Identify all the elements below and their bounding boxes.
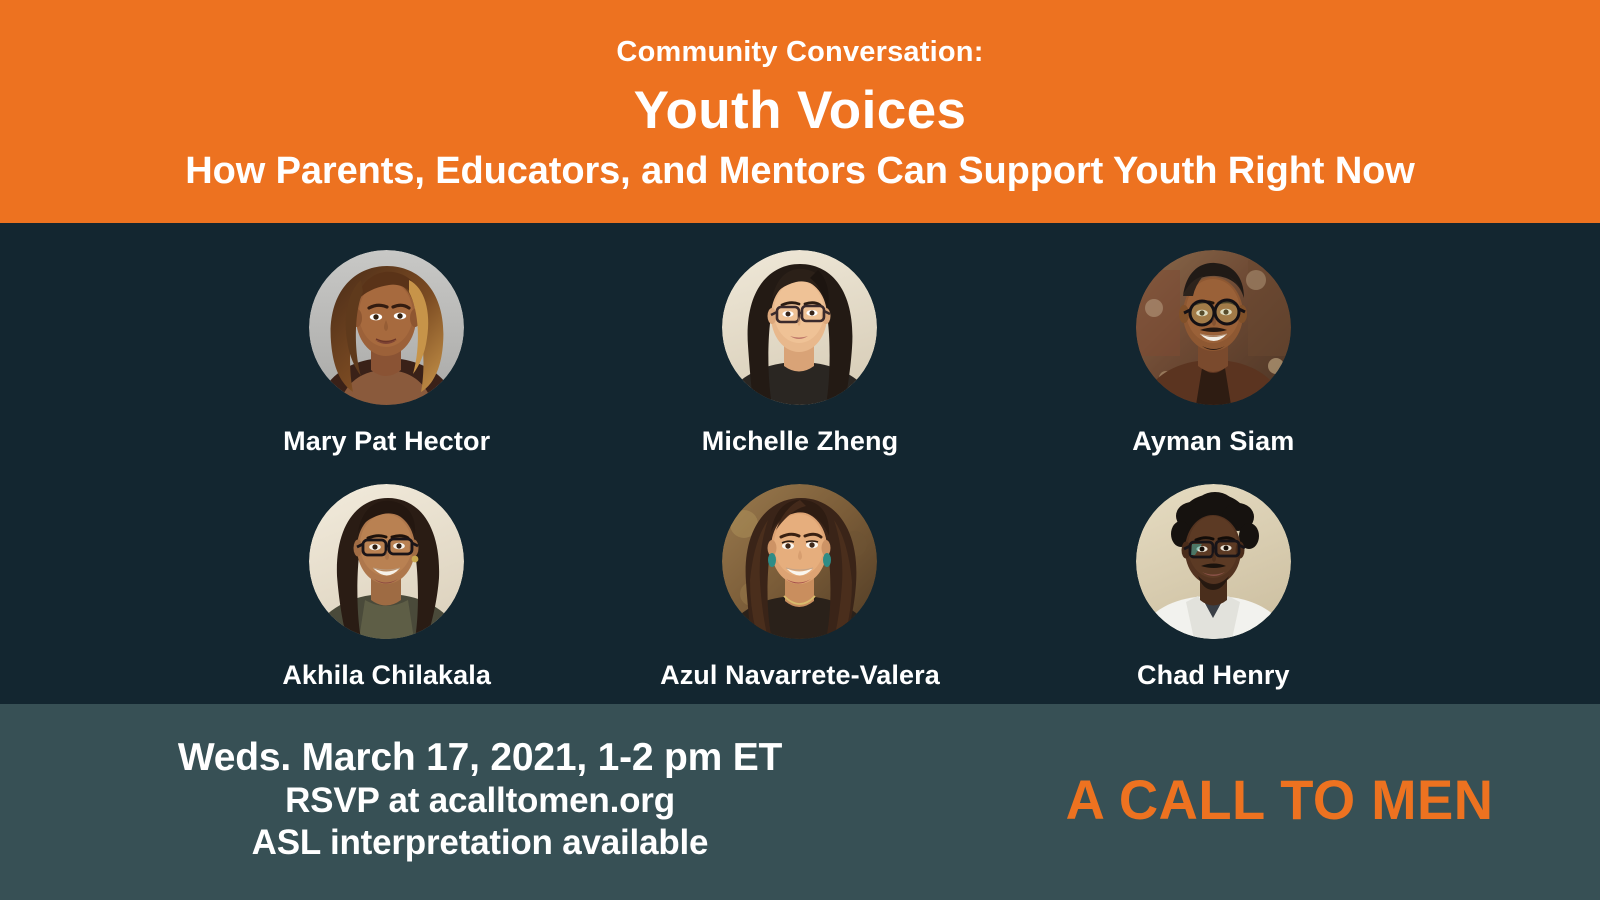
rsvp-text[interactable]: RSVP at acalltomen.org [285, 780, 675, 822]
avatar [1136, 484, 1291, 639]
speaker-card: Akhila Chilakala [180, 464, 593, 705]
avatar [722, 484, 877, 639]
avatar [722, 250, 877, 405]
portrait-mary-pat-hector [309, 250, 464, 405]
speaker-name: Michelle Zheng [702, 426, 898, 457]
portrait-ayman-siam [1136, 250, 1291, 405]
speakers-section: Mary Pat Hector [0, 223, 1600, 704]
speaker-card: Michelle Zheng [593, 223, 1006, 464]
header-kicker: Community Conversation: [616, 37, 983, 69]
avatar [309, 484, 464, 639]
poster-footer: Weds. March 17, 2021, 1-2 pm ET RSVP at … [0, 704, 1600, 900]
speaker-name: Ayman Siam [1132, 426, 1294, 457]
speaker-card: Chad Henry [1007, 464, 1420, 705]
portrait-michelle-zheng [722, 250, 877, 405]
speaker-card: Ayman Siam [1007, 223, 1420, 464]
speaker-name: Akhila Chilakala [282, 660, 491, 691]
page-title: Youth Voices [634, 83, 967, 139]
portrait-akhila-chilakala [309, 484, 464, 639]
brand-logo-area: A CALL TO MEN [960, 704, 1600, 900]
portrait-azul-navarrete-valera [722, 484, 877, 639]
speaker-name: Azul Navarrete-Valera [660, 660, 940, 691]
avatar [1136, 250, 1291, 405]
speaker-name: Mary Pat Hector [283, 426, 490, 457]
speaker-card: Azul Navarrete-Valera [593, 464, 1006, 705]
event-details: Weds. March 17, 2021, 1-2 pm ET RSVP at … [0, 704, 960, 900]
speaker-name: Chad Henry [1137, 660, 1290, 691]
avatar [309, 250, 464, 405]
portrait-chad-henry [1136, 484, 1291, 639]
event-announcement-poster: Community Conversation: Youth Voices How… [0, 0, 1600, 900]
poster-header: Community Conversation: Youth Voices How… [0, 0, 1600, 223]
accessibility-note: ASL interpretation available [252, 822, 709, 864]
speaker-card: Mary Pat Hector [180, 223, 593, 464]
speakers-grid: Mary Pat Hector [0, 223, 1600, 704]
event-datetime: Weds. March 17, 2021, 1-2 pm ET [178, 736, 782, 780]
header-subtitle: How Parents, Educators, and Mentors Can … [185, 152, 1414, 192]
a-call-to-men-logo: A CALL TO MEN [1066, 767, 1494, 832]
